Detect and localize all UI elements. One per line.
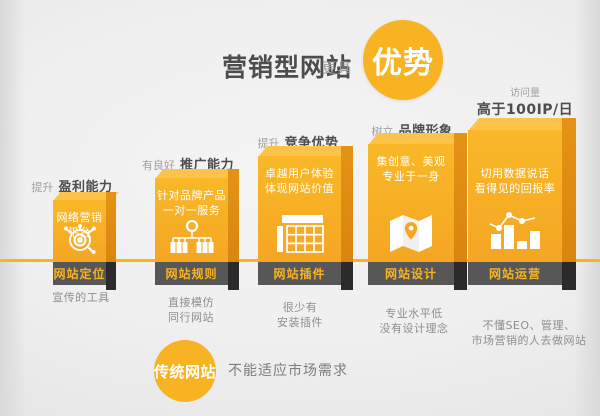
block-plugins-base-label: 网站插件 [258,262,341,285]
map-pin-icon [368,212,454,254]
block-design-base-front: 网站设计 [368,262,454,285]
caption-below-rules-line1: 直接模仿 [136,295,246,310]
block-plugins-front-line2: 体现网站价值 [258,181,341,196]
caption-below-plugins-line2: 安装插件 [245,315,355,330]
block-design-front-line1: 集创意、美观 [368,154,454,169]
block-plugins-front-text: 卓越用户体验 体现网站价值 [258,166,341,196]
block-positioning-base-front: 网站定位 [53,262,106,285]
footer-text: 不能适应市场需求 [228,360,348,380]
caption-below-design: 专业水平低 没有设计理念 [354,306,474,336]
block-operations-front-line1: 切用数据说话 [468,166,562,181]
infographic-canvas: 营销型网站 更具 优势 提升 盈利能力 网络营销平台 [0,0,600,416]
caption-below-positioning-line1: 宣传的工具 [26,290,136,305]
block-design-front-text: 集创意、美观 专业于一身 [368,154,454,184]
block-operations-base-label: 网站运营 [468,262,562,285]
caption-below-operations: 不懂SEO、管理、 市场营销的人去做网站 [458,318,600,348]
caption-below-rules: 直接模仿 同行网站 [136,295,246,325]
block-plugins-side-face [341,146,353,262]
block-design-base-label: 网站设计 [368,262,454,285]
block-design-base-side [454,262,467,290]
bar-line-chart-icon [468,210,562,250]
block-rules-side-face [228,169,239,262]
block-operations-side-face [562,118,576,262]
block-operations-base-side [562,262,576,290]
block-operations-front-face: 切用数据说话 看得见的回报率 [468,130,562,262]
block-rules-base-label: 网站规则 [155,262,228,285]
block-design-front-line2: 专业于一身 [368,169,454,184]
block-positioning-base-side [106,262,116,290]
caption-above-operations: 访问量 高于100IP/日 [462,86,588,118]
block-design-side-face [454,133,467,262]
block-rules-front-line2: 一对一服务 [155,203,228,218]
caption-above-operations-light: 访问量 [462,86,588,102]
caption-above-operations-bold: 高于100IP/日 [462,102,588,118]
title-badge-label: 优势 [363,20,443,100]
block-rules[interactable]: 针对品牌产品 一对一服务 [155,178,241,290]
block-rules-front-face: 针对品牌产品 一对一服务 [155,178,228,262]
caption-below-operations-line2: 市场营销的人去做网站 [458,333,600,348]
footer-badge-circle: 传统网站 [154,340,216,402]
block-operations-base-front: 网站运营 [468,262,562,285]
caption-below-plugins-line1: 很少有 [245,300,355,315]
block-positioning-base-label: 网站定位 [53,262,106,285]
block-plugins-base-front: 网站插件 [258,262,341,285]
block-plugins[interactable]: 卓越用户体验 体现网站价值 [258,156,356,290]
caption-below-design-line1: 专业水平低 [354,306,474,321]
block-operations-front-text: 切用数据说话 看得见的回报率 [468,166,562,196]
caption-below-rules-line2: 同行网站 [136,310,246,325]
block-operations[interactable]: 切用数据说话 看得见的回报率 [468,130,578,290]
block-positioning-side-face [106,192,116,266]
block-rules-base-front: 网站规则 [155,262,228,285]
target-icon [53,224,106,254]
block-positioning-front-face: 网络营销平台 [53,200,106,262]
block-positioning[interactable]: 网络营销平台 [53,200,119,290]
block-design-front-face: 集创意、美观 专业于一身 [368,144,454,262]
caption-below-positioning: 宣传的工具 [26,290,136,305]
block-rules-front-line1: 针对品牌产品 [155,188,228,203]
org-chart-icon [155,220,228,254]
caption-below-plugins: 很少有 安装插件 [245,300,355,330]
block-plugins-front-face: 卓越用户体验 体现网站价值 [258,156,341,262]
block-operations-front-line2: 看得见的回报率 [468,181,562,196]
block-rules-base-side [228,262,239,290]
grid-layout-icon [258,214,341,254]
title-sub-text: 更具 [322,58,352,78]
block-plugins-front-line1: 卓越用户体验 [258,166,341,181]
caption-above-positioning-light: 提升 [31,181,53,194]
block-rules-front-text: 针对品牌产品 一对一服务 [155,188,228,218]
footer-badge-label: 传统网站 [154,340,216,402]
background-left-edge [0,0,26,416]
block-design[interactable]: 集创意、美观 专业于一身 网站设计 [368,144,470,290]
title-badge-circle: 优势 [363,20,443,100]
caption-below-operations-line1: 不懂SEO、管理、 [458,318,600,333]
block-plugins-base-side [341,262,353,290]
caption-below-design-line2: 没有设计理念 [354,321,474,336]
